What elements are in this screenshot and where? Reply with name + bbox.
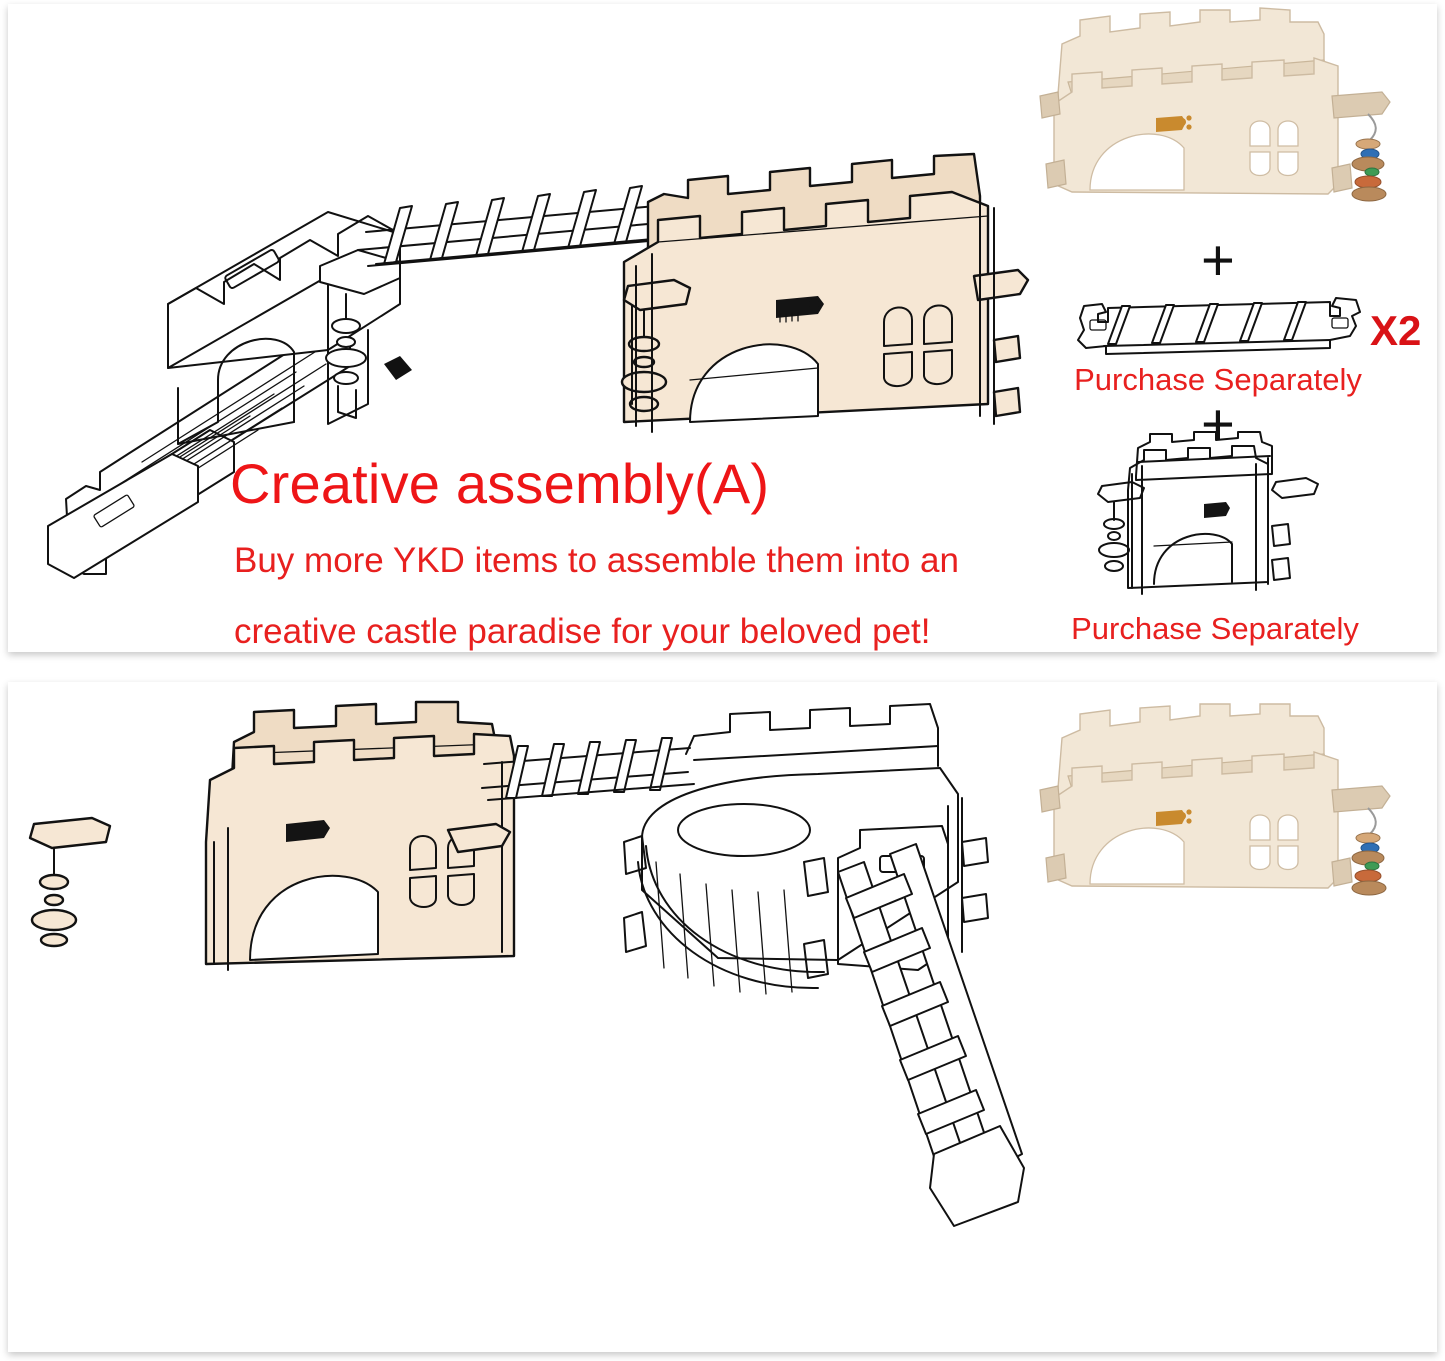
panel-creative-assembly-a: Creative assembly(A) Buy more YKD items … [8,4,1437,652]
castle-house-illustration-a [1092,432,1368,604]
wooden-castle-hideout-photo [1032,8,1432,230]
assembly-b-diagram [18,702,1018,1312]
wooden-ramp-ladder [838,844,1024,1226]
wooden-castle-hideout-photo [1034,704,1432,922]
subline-a-1: Buy more YKD items to assemble them into… [234,541,959,581]
hanging-chew-toy [30,818,110,946]
quantity-badge-a: X2 [1370,307,1421,355]
rung-bridge [358,186,664,266]
plus-sign-a-1: + [1201,232,1235,290]
infographic-root: Creative assembly(A) Buy more YKD items … [0,0,1445,1361]
hanging-chew-toy [1098,482,1144,571]
panel-creative-assembly-b: Creative assembly(B) Buy more YKD items … [8,682,1437,1352]
rung-bridge [482,738,694,800]
headline-a: Creative assembly(A) [230,451,769,516]
large-castle-house [622,154,1028,432]
ykd-brand-logo [1204,502,1230,518]
subline-a-2: creative castle paradise for your belove… [234,612,931,652]
rung-bridge-illustration-a [1068,296,1368,364]
purchase-label-a-2: Purchase Separately [1040,611,1390,647]
large-castle-house [30,702,514,970]
